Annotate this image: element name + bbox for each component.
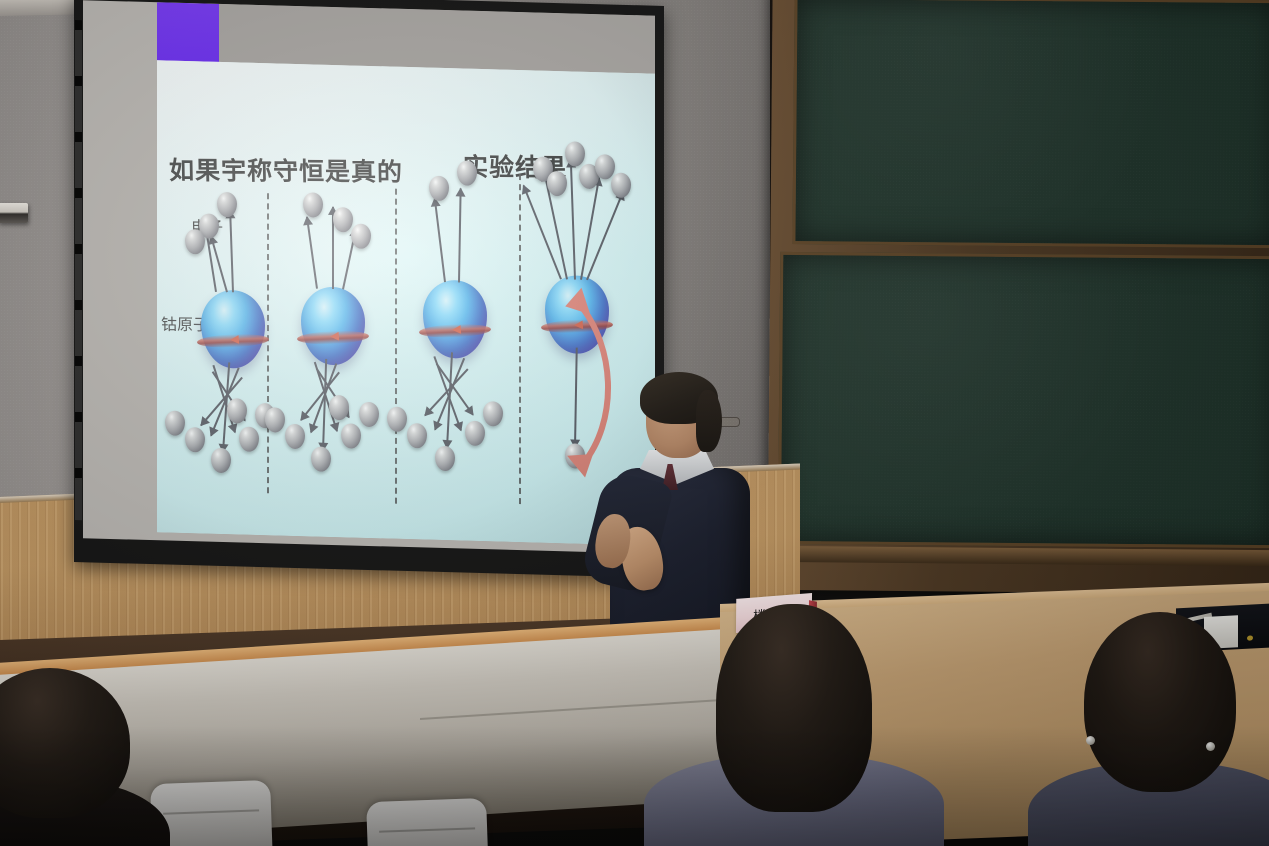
- audience-head-hair: [716, 604, 872, 812]
- electron-arrow-up: [301, 216, 323, 289]
- slide-panel-1: [157, 60, 655, 74]
- slide-divider-3: [519, 174, 521, 504]
- electron: [285, 424, 305, 450]
- electron: [311, 446, 331, 472]
- electron: [387, 406, 407, 432]
- slide-panel-2: [157, 60, 655, 74]
- electron: [211, 448, 231, 474]
- electron: [465, 421, 485, 447]
- lecture-hall-scene: 如果宇称守恒是真的 实验结果 电子 钴原子: [0, 0, 1269, 846]
- slide-body: 如果宇称守恒是真的 实验结果 电子 钴原子: [157, 60, 655, 546]
- cobalt-atom-1: [201, 289, 265, 369]
- electron: [595, 154, 615, 180]
- cobalt-atom-2: [301, 286, 365, 366]
- electron: [483, 401, 503, 427]
- electron-arrow-up: [429, 198, 451, 283]
- electron: [359, 402, 379, 428]
- electron: [265, 407, 285, 433]
- audience-left: [0, 668, 160, 846]
- earring: [1086, 736, 1095, 745]
- electron: [341, 423, 361, 449]
- electron: [351, 223, 371, 249]
- electron: [407, 423, 427, 449]
- projection-screen-frame: 如果宇称守恒是真的 实验结果 电子 钴原子: [74, 0, 664, 578]
- wall-device-speaker: [0, 203, 28, 223]
- slide-panel-4: [157, 60, 655, 74]
- projection-screen-surface: 如果宇称守恒是真的 实验结果 电子 钴原子: [83, 0, 655, 553]
- electron: [547, 171, 567, 197]
- audience-head-hair: [0, 668, 130, 818]
- electron: [185, 427, 205, 453]
- slide-panel-3: [157, 60, 655, 74]
- electron: [165, 410, 185, 436]
- audience-middle: [650, 604, 940, 846]
- slide-divider-2: [395, 189, 397, 504]
- chalkboard-frame: [767, 0, 1269, 594]
- electron-arrow-up: [453, 188, 467, 282]
- audience-right: [1042, 612, 1269, 846]
- electron: [185, 229, 205, 255]
- earring: [1206, 742, 1215, 751]
- presenter-hair-back: [696, 390, 722, 452]
- electron: [239, 426, 259, 452]
- chalkboard-panel-upper: [792, 0, 1269, 248]
- atom-spin-band: [419, 322, 492, 338]
- electron: [303, 192, 323, 218]
- chalkboard-panel-lower: [778, 252, 1269, 548]
- electron: [435, 446, 455, 472]
- chalkboard-chalk-ledge: [772, 546, 1269, 566]
- chair-back[interactable]: [366, 798, 490, 846]
- slide-accent-block: [157, 2, 219, 64]
- cobalt-atom-3: [423, 279, 487, 359]
- atom-spin-band: [297, 329, 370, 345]
- atom-spin-band: [197, 332, 270, 348]
- slide-divider-1: [267, 193, 269, 493]
- projected-slide: 如果宇称守恒是真的 实验结果 电子 钴原子: [157, 2, 655, 545]
- audience-head-hair: [1084, 612, 1236, 792]
- electron: [429, 176, 449, 202]
- electron: [565, 141, 585, 167]
- slide-heading-left: 如果宇称守恒是真的: [169, 151, 404, 189]
